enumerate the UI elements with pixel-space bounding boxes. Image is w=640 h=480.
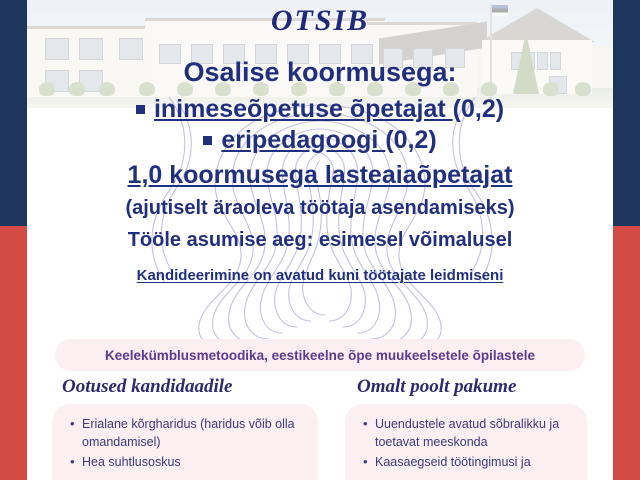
expectations-heading: Ootused kandidaadile <box>62 376 232 398</box>
left-rail-red-segment <box>0 226 27 480</box>
expectations-card: Erialane kõrgharidus (haridus võib olla … <box>52 404 318 480</box>
list-item: eripedagoogi (0,2) <box>27 125 613 156</box>
start-date-line: Tööle asumise aeg: esimesel võimalusel <box>27 229 613 251</box>
methodology-banner-text: Keelekümblusmetoodika, eestikeelne õpe m… <box>105 348 535 363</box>
right-rail <box>613 0 640 480</box>
substitution-note: (ajutiselt äraoleva töötaja asendamiseks… <box>27 197 613 219</box>
poster-root: OTSIB Osalise koormusega: inimeseõpetuse… <box>0 0 640 480</box>
list-item: Uuendustele avatud sõbralikku ja toetava… <box>363 416 577 452</box>
square-bullet-icon <box>203 136 212 145</box>
position-name: inimeseõpetuse õpetajat <box>154 95 453 123</box>
square-bullet-icon <box>136 105 145 114</box>
offers-card: Uuendustele avatud sõbralikku ja toetava… <box>345 404 587 480</box>
methodology-banner: Keelekümblusmetoodika, eestikeelne õpe m… <box>55 339 585 371</box>
right-rail-red-segment <box>613 226 640 480</box>
position-load: (0,2) <box>385 126 436 154</box>
position-load: (0,2) <box>453 95 504 123</box>
expectations-list: Erialane kõrgharidus (haridus võib olla … <box>52 404 318 471</box>
list-item: Hea suhtlusoskus <box>70 454 308 472</box>
page-title: OTSIB <box>27 6 613 36</box>
headline-zone: OTSIB Osalise koormusega: inimeseõpetuse… <box>27 0 613 284</box>
left-rail-navy-segment <box>0 0 27 226</box>
position-name: eripedagoogi <box>221 126 385 154</box>
offers-heading: Omalt poolt pakume <box>357 376 516 398</box>
right-rail-navy-segment <box>613 0 640 226</box>
full-load-position: 1,0 koormusega lasteaiaõpetajat <box>27 162 613 190</box>
list-item: Kaasaegseid töötingimusi ja <box>363 454 577 472</box>
position-bullet-list: inimeseõpetuse õpetajat (0,2) eripedagoo… <box>27 94 613 155</box>
list-item: Erialane kõrgharidus (haridus võib olla … <box>70 416 308 452</box>
offers-list: Uuendustele avatud sõbralikku ja toetava… <box>345 404 587 471</box>
application-open-line: Kandideerimine on avatud kuni töötajate … <box>27 268 613 285</box>
list-item: inimeseõpetuse õpetajat (0,2) <box>27 94 613 125</box>
left-rail <box>0 0 27 480</box>
part-time-label: Osalise koormusega: <box>27 58 613 86</box>
